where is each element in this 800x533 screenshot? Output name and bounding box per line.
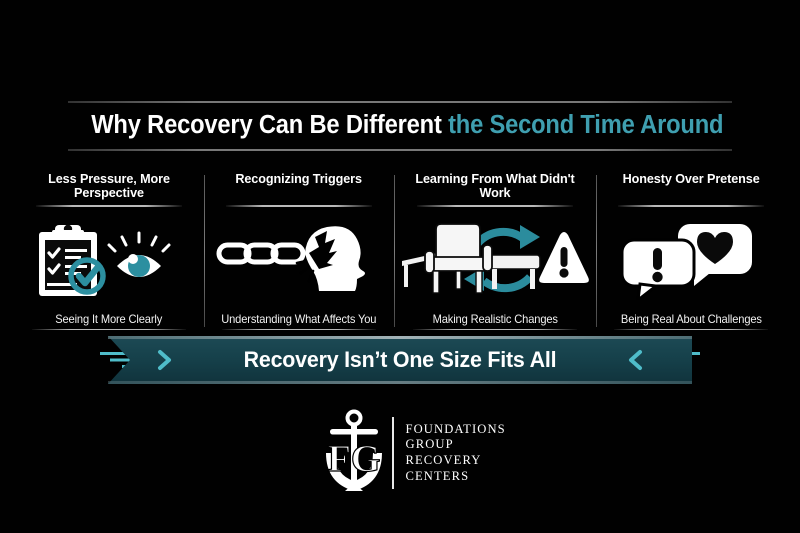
column-subtitle: Seeing It More Clearly [56,313,163,329]
title-block: Why Recovery Can Be Different the Second… [68,101,732,151]
eye-icon [109,233,169,277]
logo-divider [392,417,394,489]
column-less-pressure: Less Pressure, More Perspective [14,172,204,330]
column-learning-from-what-didnt-work: Learning From What Didn't Work [394,172,596,330]
column-subtitle-rule [413,329,576,331]
logo-wordmark: FOUNDATIONS GROUP RECOVERY CENTERS [406,422,506,484]
column-heading: Less Pressure, More Perspective [24,172,193,202]
logo-line-2: GROUP [406,437,506,453]
banner-label: Recovery Isn’t One Size Fits All [123,336,678,384]
page-title-main: Why Recovery Can Be Different [91,111,448,139]
speech-bubble-exclamation-icon [622,240,694,300]
column-subtitle-rule [222,329,375,331]
logo-monogram: FG [328,438,381,480]
recycle-arrow-head-top [520,225,540,249]
banner: Recovery Isn’t One Size Fits All [0,336,800,384]
logo-line-1: FOUNDATIONS [406,422,506,438]
column-recognizing-triggers: Recognizing Triggers [204,172,394,330]
furniture-change-icon-group [400,217,590,303]
page-title: Why Recovery Can Be Different the Second… [91,103,709,149]
feature-columns: Less Pressure, More Perspective [14,172,786,330]
column-subtitle: Making Realistic Changes [432,313,557,329]
column-icon-area [602,207,780,313]
title-rule-bottom [68,149,732,151]
infographic-canvas: Why Recovery Can Be Different the Second… [0,0,800,533]
column-icon-area [20,207,198,313]
speech-bubbles-icon-group [616,220,766,300]
column-icon-area [400,207,590,313]
column-heading: Recognizing Triggers [236,172,363,202]
logo-line-4: CENTERS [406,469,506,485]
column-subtitle: Understanding What Affects You [221,313,376,329]
column-subtitle: Being Real About Challenges [621,313,762,329]
anchor-icon: FG [318,409,390,497]
column-honesty-over-pretense: Honesty Over Pretense [596,172,786,330]
logo-line-3: RECOVERY [406,453,506,469]
column-subtitle-rule [614,329,767,331]
chain-links-icon [219,245,303,262]
logo: FG FOUNDATIONS GROUP RECOVERY CENTERS [318,408,508,498]
column-icon-area [210,207,388,313]
chain-head-icon-group [213,219,385,301]
column-subtitle-rule [32,329,185,331]
page-title-accent: the Second Time Around [448,111,723,139]
column-heading: Honesty Over Pretense [622,172,759,202]
warning-triangle-icon [539,232,589,283]
banner-ribbon: Recovery Isn’t One Size Fits All [108,336,692,384]
clipboard-eye-icon-group [25,220,193,300]
column-heading: Learning From What Didn't Work [405,172,586,202]
cracked-head-icon [297,226,365,291]
